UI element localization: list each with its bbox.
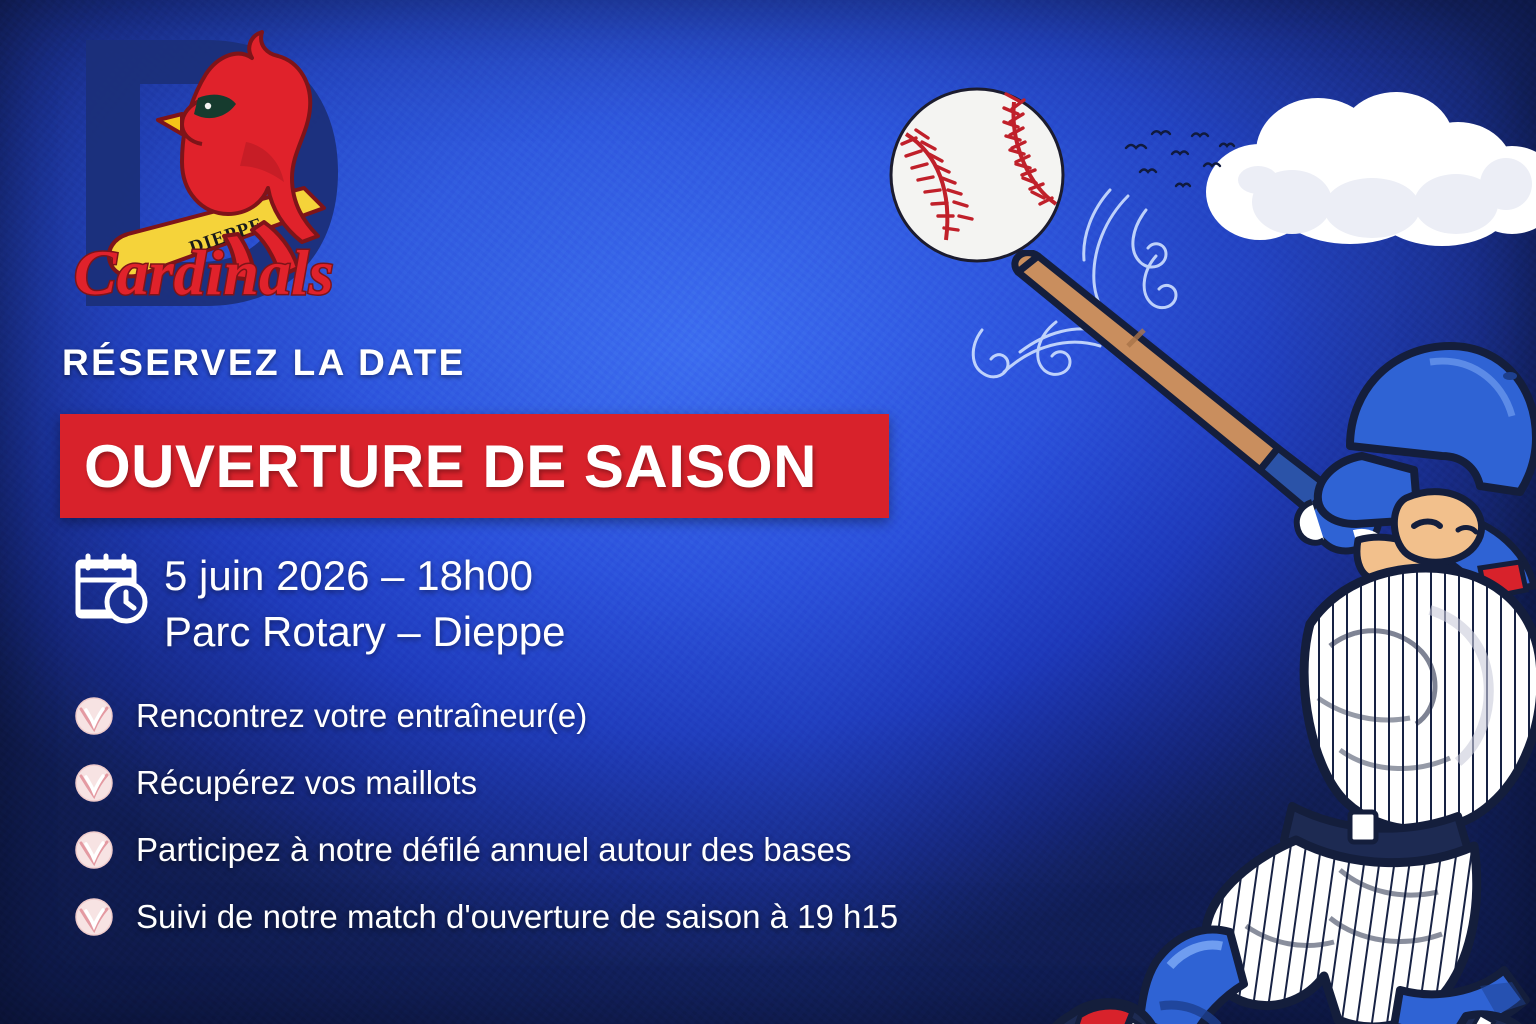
list-item: Rencontrez votre entraîneur(e) [74,686,898,746]
list-item-label: Participez à notre défilé annuel autour … [136,831,851,869]
event-when-block: 5 juin 2026 – 18h00 Parc Rotary – Dieppe [72,548,566,660]
list-item: Récupérez vos maillots [74,753,898,813]
cloud-icon [1200,80,1536,260]
list-item: Suivi de notre match d'ouverture de sais… [74,887,898,947]
team-logo: DIEPPE Cardinals [56,22,386,322]
calendar-clock-icon [72,552,148,626]
baseball-batter-illustration [1010,250,1536,1024]
list-item: Participez à notre défilé annuel autour … [74,820,898,880]
logo-script-text: Cardinals [74,237,334,308]
activity-list: Rencontrez votre entraîneur(e) Récupérez… [74,686,898,954]
baseball-check-icon [74,897,114,937]
baseball-check-icon [74,696,114,736]
list-item-label: Récupérez vos maillots [136,764,477,802]
event-location: Parc Rotary – Dieppe [164,604,566,660]
list-item-label: Suivi de notre match d'ouverture de sais… [136,898,898,936]
list-item-label: Rencontrez votre entraîneur(e) [136,697,587,735]
page-title: OUVERTURE DE SAISON [84,432,817,501]
title-banner: OUVERTURE DE SAISON [60,414,889,518]
event-datetime: 5 juin 2026 – 18h00 [164,548,566,604]
baseball-check-icon [74,830,114,870]
poster-canvas: DIEPPE Cardinals RÉSERVEZ LA DATE OUVERT… [0,0,1536,1024]
baseball-check-icon [74,763,114,803]
save-the-date-eyebrow: RÉSERVEZ LA DATE [62,342,466,384]
logo-script: Cardinals [74,237,334,308]
